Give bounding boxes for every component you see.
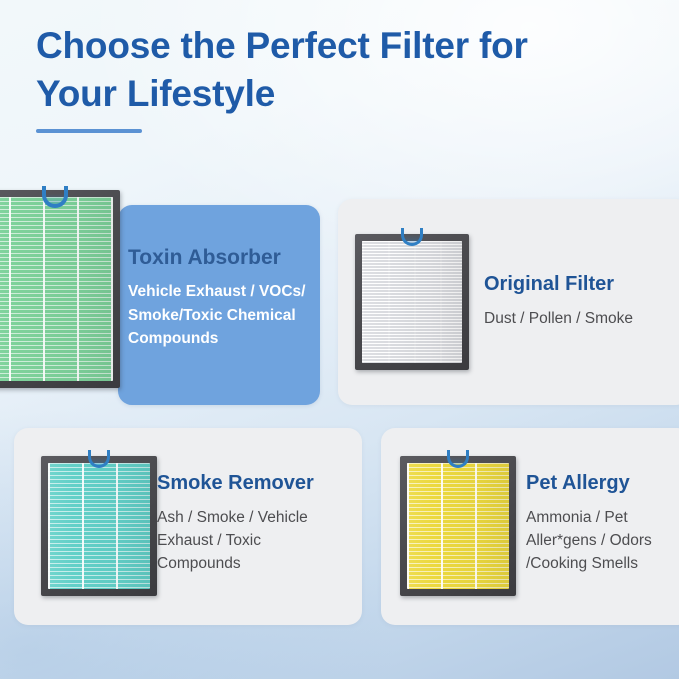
- filter-description-pet-allergy: Ammonia / Pet Aller*gens / Odors /Cookin…: [526, 506, 679, 575]
- filter-frame: [355, 234, 469, 370]
- filter-title-original-filter: Original Filter: [484, 273, 679, 296]
- filter-pleats: [407, 463, 509, 589]
- page-title-line-1: Choose the Perfect Filter for: [36, 25, 528, 66]
- page-title-line-2: Your Lifestyle: [36, 73, 275, 114]
- filter-frame: [400, 456, 516, 596]
- title-accent-underline: [36, 129, 142, 133]
- filter-media: [407, 463, 509, 589]
- page-title: Choose the Perfect Filter for Your Lifes…: [36, 22, 636, 118]
- filter-media: [362, 241, 462, 363]
- filter-pleats: [0, 197, 113, 381]
- filter-frame: [41, 456, 157, 596]
- filter-description-smoke-remover: Ash / Smoke / Vehicle Exhaust / Toxic Co…: [157, 506, 337, 575]
- filter-pleats: [48, 463, 150, 589]
- filter-image-original-filter: [355, 234, 469, 370]
- infographic-canvas: Choose the Perfect Filter for Your Lifes…: [0, 0, 679, 679]
- filter-card-text-pet-allergy: Pet Allergy Ammonia / Pet Aller*gens / O…: [526, 472, 679, 575]
- filter-media: [0, 197, 113, 381]
- filter-media: [48, 463, 150, 589]
- filter-title-pet-allergy: Pet Allergy: [526, 472, 679, 495]
- filter-title-toxin-absorber: Toxin Absorber: [128, 246, 328, 270]
- filter-card-text-smoke-remover: Smoke Remover Ash / Smoke / Vehicle Exha…: [157, 472, 337, 575]
- filter-image-smoke-remover: [41, 456, 157, 596]
- filter-card-text-original-filter: Original Filter Dust / Pollen / Smoke: [484, 273, 679, 330]
- filter-title-smoke-remover: Smoke Remover: [157, 472, 337, 495]
- filter-description-original-filter: Dust / Pollen / Smoke: [484, 307, 679, 330]
- filter-pleats: [362, 241, 462, 363]
- filter-frame: [0, 190, 120, 388]
- filter-image-pet-allergy: [400, 456, 516, 596]
- filter-image-toxin-absorber: [0, 190, 120, 388]
- filter-card-text-toxin-absorber: Toxin Absorber Vehicle Exhaust / VOCs/ S…: [128, 246, 328, 351]
- filter-description-toxin-absorber: Vehicle Exhaust / VOCs/ Smoke/Toxic Chem…: [128, 280, 328, 351]
